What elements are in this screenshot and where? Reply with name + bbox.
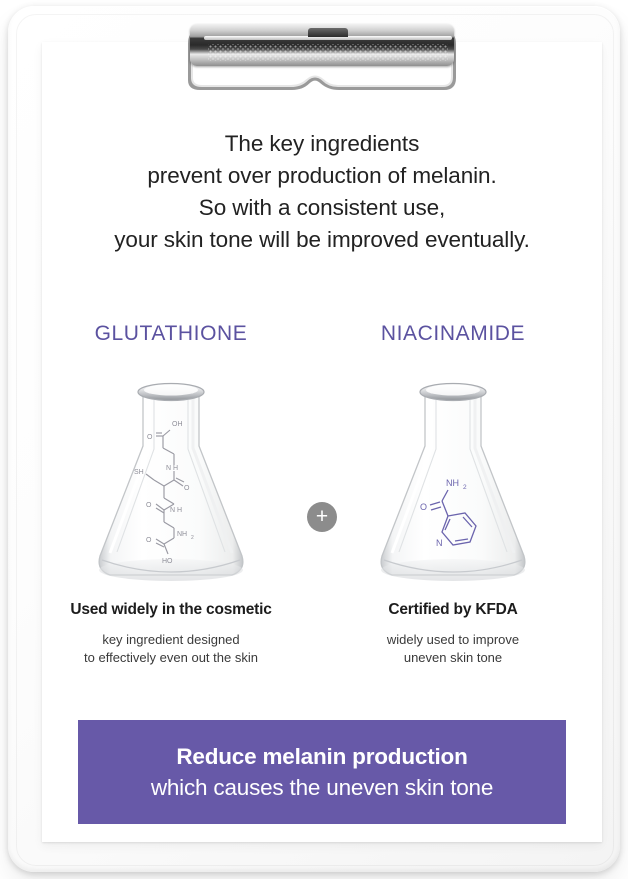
clip-nub [308,28,348,37]
svg-text:N: N [436,538,443,548]
caption-bold-niacinamide: Certified by KFDA [338,601,568,619]
svg-text:O: O [147,434,153,441]
svg-text:SH: SH [134,469,144,476]
caption-sub-glutathione: key ingredient designed to effectively e… [56,631,286,667]
svg-text:2: 2 [191,535,194,541]
svg-text:2: 2 [463,484,467,491]
svg-text:NH: NH [446,478,459,488]
summary-banner: Reduce melanin production which causes t… [78,720,566,824]
caption-sub-line-1: widely used to improve [338,631,568,649]
headline-line-3: So with a consistent use, [42,192,602,224]
banner-line-2: which causes the uneven skin tone [151,775,493,801]
svg-text:N: N [166,465,171,472]
svg-text:N: N [170,507,175,514]
svg-text:O: O [146,502,152,509]
headline-line-2: prevent over production of melanin. [42,160,602,192]
caption-sub-line-2: to effectively even out the skin [56,649,286,667]
clip-body [190,24,454,66]
caption-sub-line-2: uneven skin tone [338,649,568,667]
flask-glutathione: OH O N H O [56,370,286,595]
flask-niacinamide-icon: NH 2 O N [368,370,538,588]
headline-line-1: The key ingredients [42,128,602,160]
ingredient-niacinamide: NIACINAMIDE NH [338,322,568,667]
banner-line-1: Reduce melanin production [176,744,467,770]
paper-content: The key ingredients prevent over product… [42,42,602,842]
headline: The key ingredients prevent over product… [42,128,602,256]
svg-text:O: O [420,502,427,512]
caption-bold-glutathione: Used widely in the cosmetic [56,601,286,619]
caption-sub-niacinamide: widely used to improve uneven skin tone [338,631,568,667]
clipboard: The key ingredients prevent over product… [8,6,620,872]
svg-text:NH: NH [177,531,187,538]
ingredient-title-niacinamide: NIACINAMIDE [338,322,568,346]
svg-text:H: H [177,507,182,514]
plus-icon: + [307,502,337,532]
svg-text:O: O [184,485,190,492]
clip-knurl-texture [208,44,448,61]
svg-text:O: O [146,537,152,544]
flask-glutathione-icon: OH O N H O [86,370,256,588]
svg-text:OH: OH [172,421,183,428]
caption-sub-line-1: key ingredient designed [56,631,286,649]
svg-text:H: H [173,465,178,472]
ingredient-glutathione: GLUTATHIONE [56,322,286,667]
headline-line-4: your skin tone will be improved eventual… [42,224,602,256]
clipboard-clip[interactable] [184,14,460,96]
flask-niacinamide: NH 2 O N [338,370,568,595]
ingredient-title-glutathione: GLUTATHIONE [56,322,286,346]
svg-text:HO: HO [162,558,173,565]
